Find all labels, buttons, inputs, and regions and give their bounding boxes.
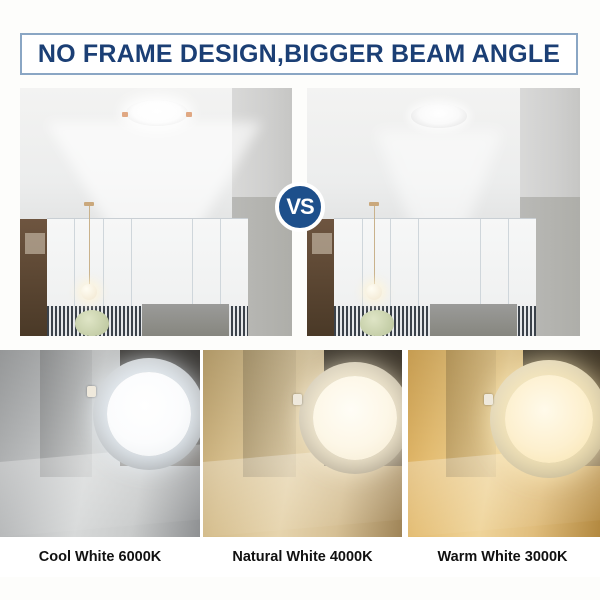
pendant-lamp-globe bbox=[81, 284, 97, 300]
bed-headboard bbox=[430, 304, 517, 336]
led-panel-cool-white bbox=[93, 358, 200, 470]
led-panel-natural-white bbox=[299, 362, 405, 474]
plant-decor bbox=[360, 310, 394, 336]
pendant-cord bbox=[374, 206, 375, 286]
panel-light-face bbox=[505, 375, 593, 463]
ceiling-downlight-frameless bbox=[126, 100, 188, 126]
headline-text: NO FRAME DESIGN,BIGGER BEAM ANGLE bbox=[38, 40, 560, 69]
wooden-wardrobe bbox=[307, 219, 337, 336]
bed-headboard bbox=[142, 304, 229, 336]
cct-caption-row: Cool White 6000K Natural White 4000K War… bbox=[0, 537, 600, 577]
vs-badge: VS bbox=[275, 182, 325, 232]
panel-spring-clip bbox=[484, 394, 493, 405]
panel-spring-clip bbox=[87, 386, 96, 397]
tile-divider bbox=[402, 350, 405, 537]
tile-divider bbox=[200, 350, 203, 537]
caption-cool-white: Cool White 6000K bbox=[0, 537, 200, 577]
room-photo-left bbox=[20, 88, 292, 336]
color-temperature-row bbox=[0, 350, 600, 537]
plant-decor bbox=[75, 310, 109, 336]
led-panel-warm-white bbox=[490, 360, 600, 478]
caption-natural-white: Natural White 4000K bbox=[200, 537, 405, 577]
cct-tile-natural-white bbox=[203, 350, 405, 537]
ceiling-downlight-framed bbox=[411, 104, 467, 128]
wooden-bookshelf bbox=[20, 219, 50, 336]
cct-tile-warm-white bbox=[408, 350, 600, 537]
cct-tile-cool-white bbox=[0, 350, 200, 537]
panel-light-face bbox=[107, 372, 191, 456]
caption-warm-white: Warm White 3000K bbox=[405, 537, 600, 577]
fixture-clip-right bbox=[186, 112, 192, 117]
headline-banner: NO FRAME DESIGN,BIGGER BEAM ANGLE bbox=[20, 33, 578, 75]
vs-label: VS bbox=[286, 194, 313, 220]
panel-spring-clip bbox=[293, 394, 302, 405]
panel-light-face bbox=[313, 376, 397, 460]
fixture-clip-left bbox=[122, 112, 128, 117]
product-info-graphic: NO FRAME DESIGN,BIGGER BEAM ANGLE bbox=[0, 0, 600, 600]
pendant-cord bbox=[89, 206, 90, 286]
room-photo-right bbox=[307, 88, 580, 336]
pendant-lamp-globe bbox=[366, 284, 382, 300]
